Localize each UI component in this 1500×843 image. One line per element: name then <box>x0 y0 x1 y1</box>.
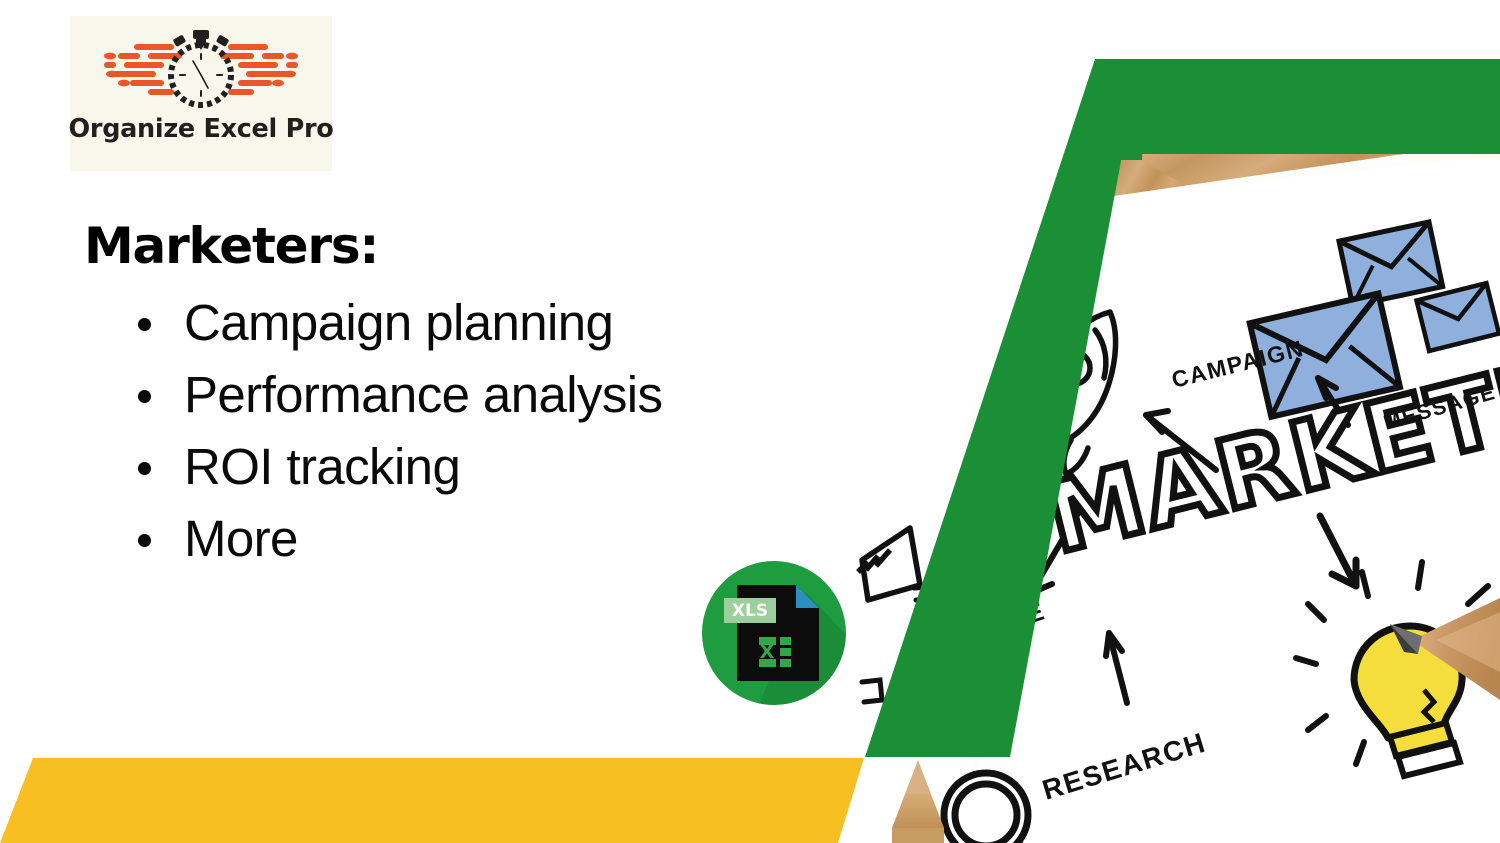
sheet-letter: X <box>760 641 775 663</box>
xls-file-icon[interactable]: XLS X <box>700 559 848 707</box>
marketing-doodle-photo: MARKETING CAMPAIGN MESSAGE MESSAGE RESEA… <box>856 0 1500 843</box>
stopwatch-icon <box>96 28 306 108</box>
xls-badge-label: XLS <box>732 601 768 621</box>
list-item: Performance analysis <box>124 360 824 430</box>
list-item: ROI tracking <box>124 432 824 502</box>
yellow-accent-bar <box>0 700 900 843</box>
brand-logo[interactable]: Organize Excel Pro <box>70 16 332 171</box>
feature-list: Campaign planning Performance analysis R… <box>124 288 824 576</box>
slide-canvas: MARKETING CAMPAIGN MESSAGE MESSAGE RESEA… <box>0 0 1500 843</box>
list-item: Campaign planning <box>124 288 824 358</box>
brand-name: Organize Excel Pro <box>69 114 334 144</box>
page-title: Marketers: <box>84 220 378 273</box>
